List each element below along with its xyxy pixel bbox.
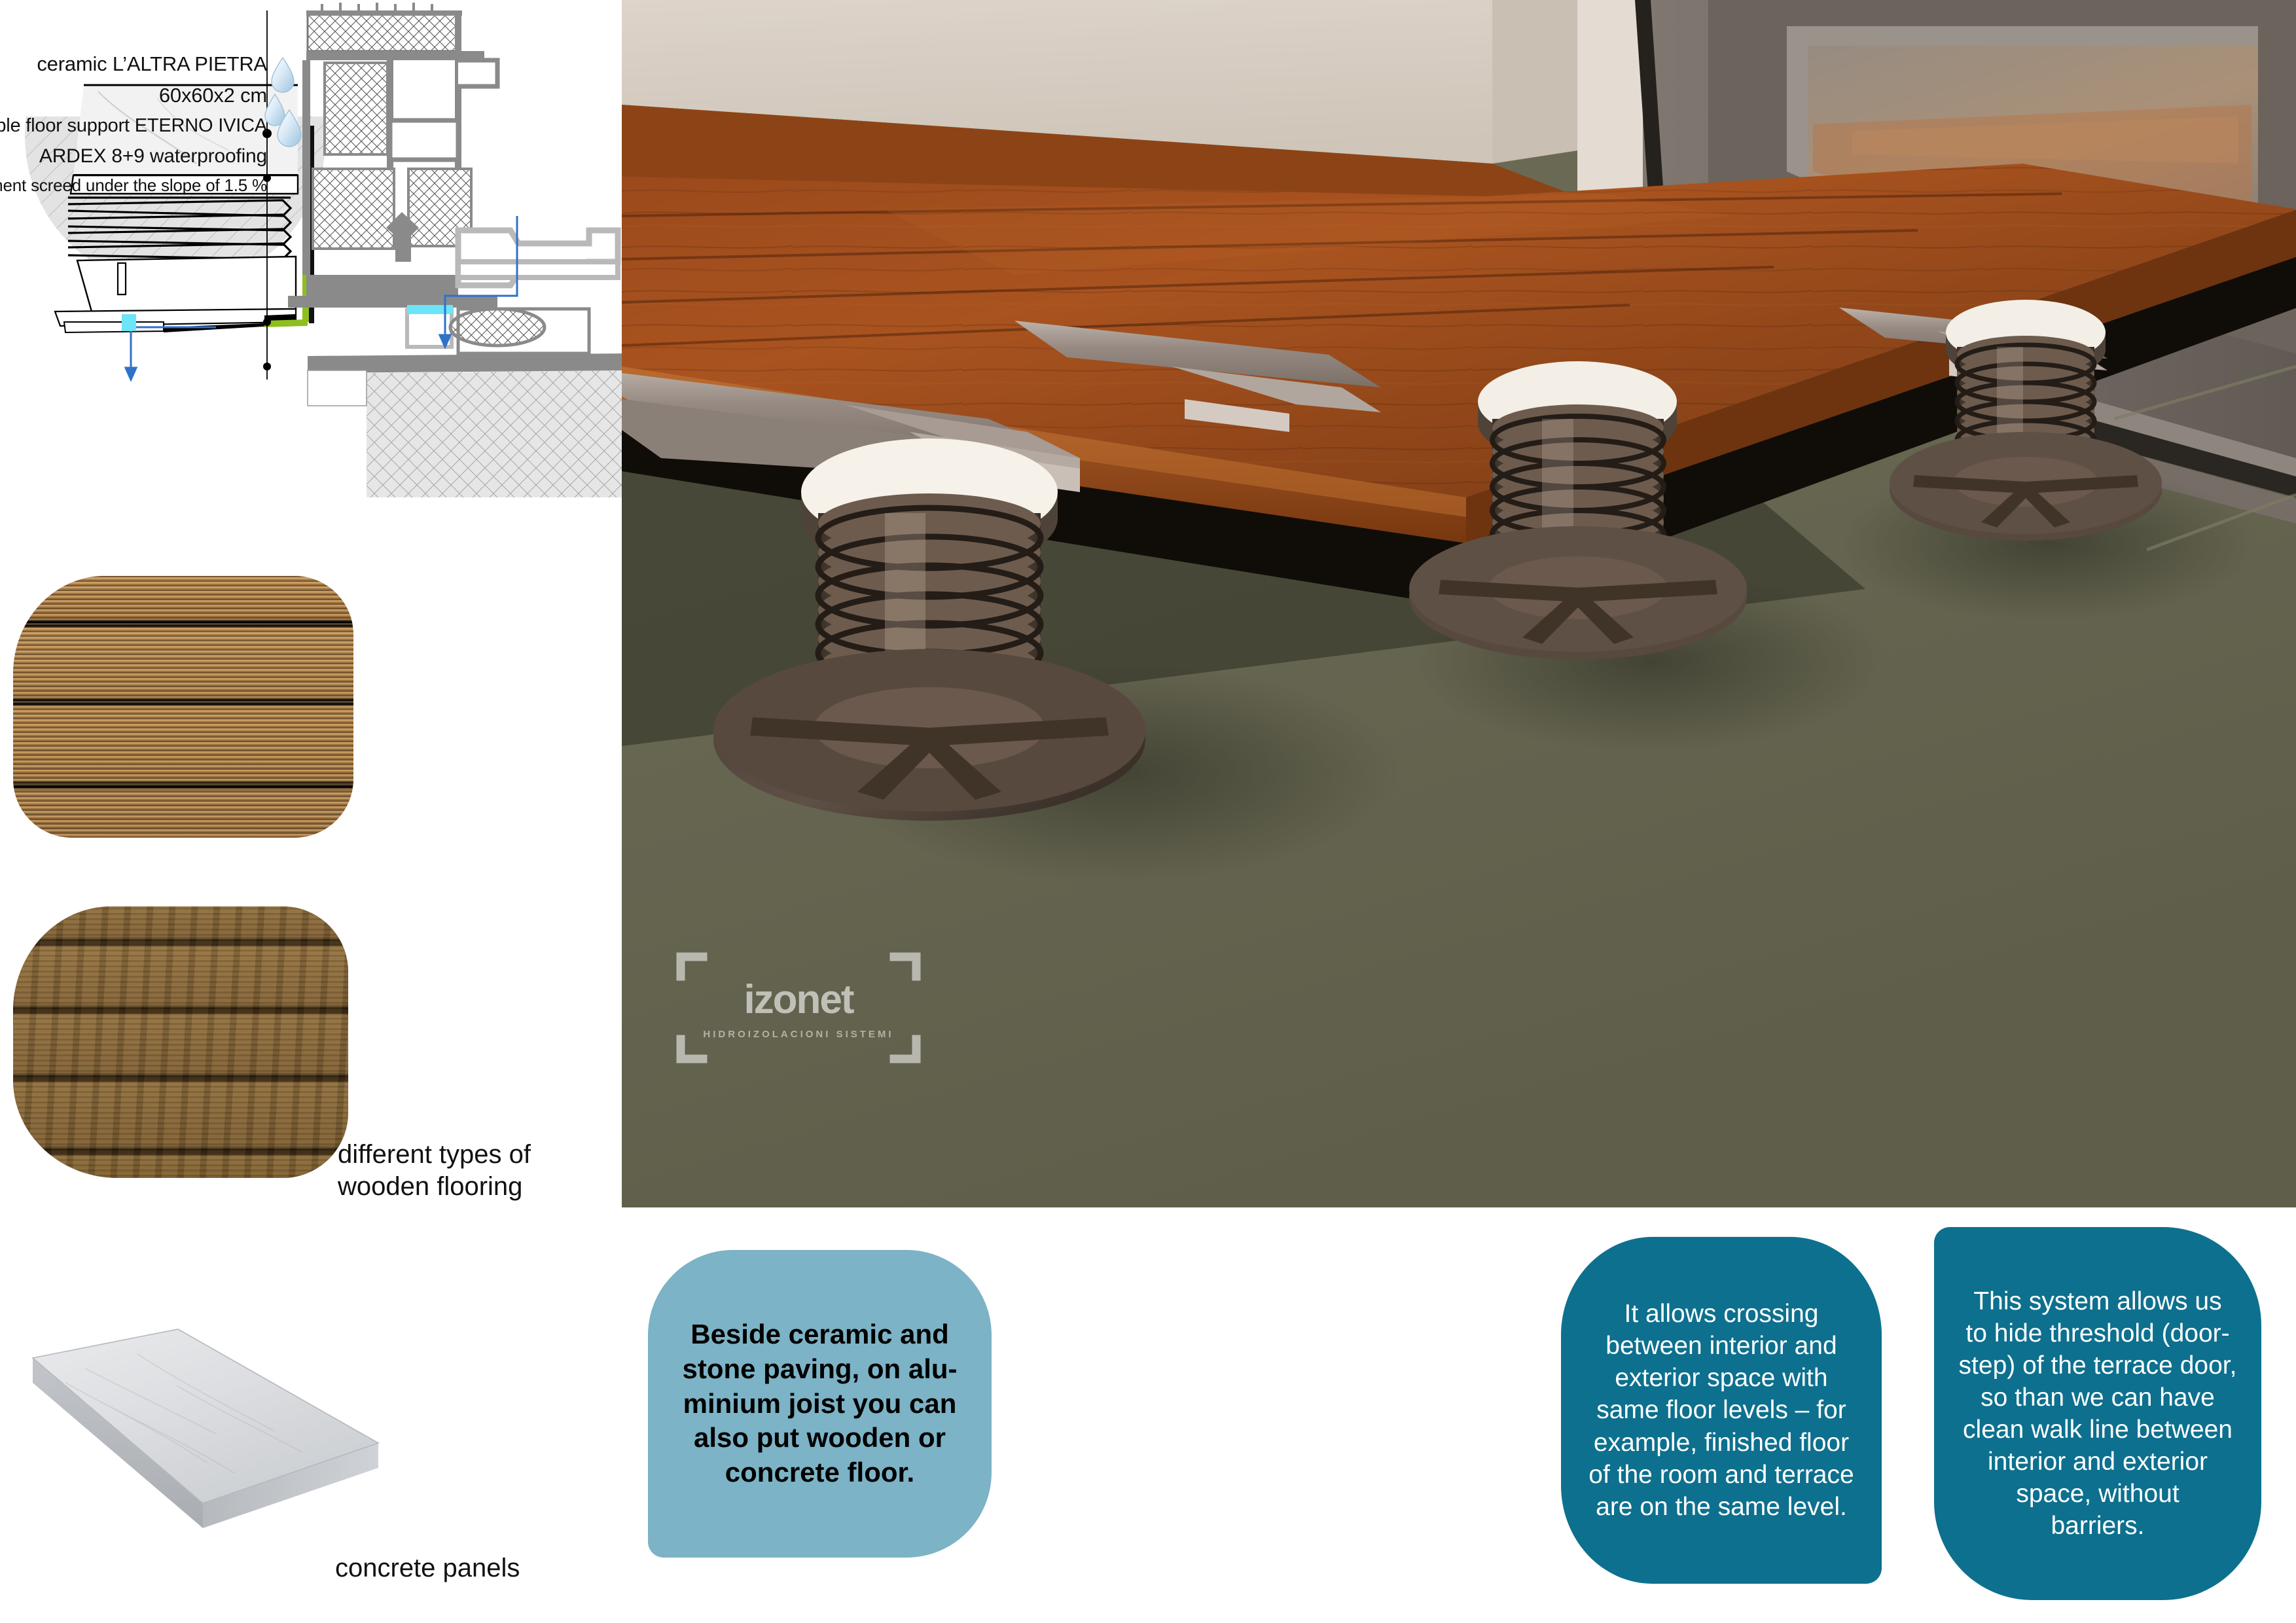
adjustable-pedestal-terrace-3d-render xyxy=(622,0,2296,1207)
cad-label-tile-size: 60x60x2 cm xyxy=(159,84,267,107)
wooden-flooring-caption-line2: wooden flooring xyxy=(338,1171,531,1203)
wooden-flooring-caption-line1: different types of xyxy=(338,1139,531,1171)
wood-ribbed-decking-swatch xyxy=(13,576,353,838)
water-drop-icon-1 xyxy=(272,58,294,92)
concrete-slab-drawing xyxy=(7,1306,399,1535)
callout-hide-threshold: This system allows us to hide threshold … xyxy=(1934,1227,2261,1600)
cad-label-waterproofing: ARDEX 8+9 waterproofing xyxy=(39,145,267,168)
callout-line: It allows crossing xyxy=(1588,1298,1854,1330)
concrete-panels-caption: concrete panels xyxy=(335,1552,520,1584)
callout-line: Beside ceramic and xyxy=(682,1317,957,1352)
concrete-substrate-field xyxy=(308,370,628,497)
render-scene xyxy=(622,0,2296,1207)
callout-line: minium joist you can xyxy=(682,1387,957,1421)
callout-line: also put wooden or xyxy=(682,1421,957,1455)
callout-beside-ceramic: Beside ceramic and stone paving, on alu-… xyxy=(648,1250,992,1558)
callout-beside-ceramic-text: Beside ceramic and stone paving, on alu-… xyxy=(682,1317,957,1491)
callout-line: between interior and xyxy=(1588,1330,1854,1362)
callout-line: of the room and terrace xyxy=(1588,1459,1854,1491)
cad-label-ceramic: ceramic L’ALTRA PIETRA xyxy=(37,52,267,76)
cad-drawing xyxy=(0,0,628,550)
callout-line: stone paving, on alu- xyxy=(682,1352,957,1387)
callout-crossing-levels-text: It allows crossing between interior and … xyxy=(1588,1298,1854,1523)
callout-line: example, finished floor xyxy=(1588,1427,1854,1459)
aluminium-profile-section xyxy=(288,3,628,373)
wood-plank-flooring-swatch xyxy=(13,906,348,1178)
callout-line: barriers. xyxy=(1959,1510,2237,1542)
technical-cross-section-detail: ceramic L’ALTRA PIETRA 60x60x2 cm adjust… xyxy=(0,0,628,550)
wood-plank-texture xyxy=(13,906,348,1178)
callout-line: step) of the terrace door, xyxy=(1959,1349,2237,1382)
callout-line: to hide threshold (door- xyxy=(1959,1317,2237,1349)
callout-line: interior and exterior xyxy=(1959,1446,2237,1478)
callout-line: so than we can have xyxy=(1959,1382,2237,1414)
callout-line: space, without xyxy=(1959,1478,2237,1510)
slide-canvas: ceramic L’ALTRA PIETRA 60x60x2 cm adjust… xyxy=(0,0,2296,1623)
callout-line: clean walk line between xyxy=(1959,1414,2237,1446)
callout-crossing-levels: It allows crossing between interior and … xyxy=(1561,1237,1882,1584)
cement-screed-body xyxy=(55,257,296,332)
callout-hide-threshold-text: This system allows us to hide threshold … xyxy=(1959,1285,2237,1543)
cad-label-floor-support: adjustable floor support ETERNO IVICA xyxy=(0,115,267,137)
callout-line: This system allows us xyxy=(1959,1285,2237,1317)
callout-line: exterior space with xyxy=(1588,1362,1854,1394)
callout-line: are on the same level. xyxy=(1588,1491,1854,1523)
cad-label-screed: cement screed under the slope of 1.5 % xyxy=(0,175,267,196)
callout-line: same floor levels – for xyxy=(1588,1394,1854,1426)
wooden-flooring-caption: different types of wooden flooring xyxy=(338,1139,531,1203)
concrete-panel-sample xyxy=(7,1306,399,1535)
callout-line: concrete floor. xyxy=(682,1455,957,1490)
wood-ribbed-texture xyxy=(13,576,353,838)
